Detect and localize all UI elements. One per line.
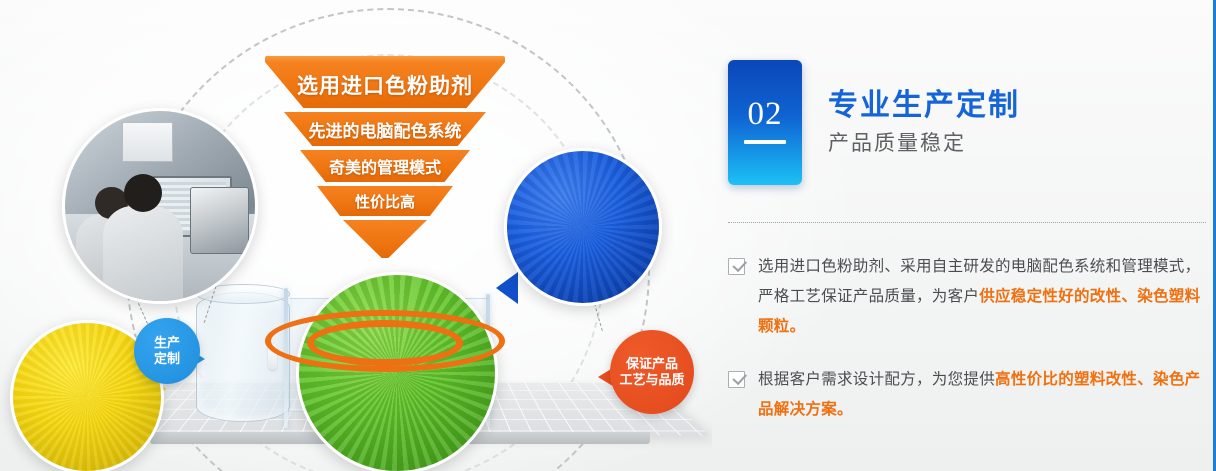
page-subtitle: 产品质量稳定 (828, 131, 1020, 156)
list-item: 选用进口色粉助剂、采用自主研发的电脑配色系统和管理模式，严格工艺保证产品质量，为… (722, 252, 1212, 343)
funnel-spout (343, 220, 427, 258)
photo-worker-2-body (103, 206, 183, 301)
left-illustration: 选用进口色粉助剂 先进的电脑配色系统 奇美的管理模式 性价比高 生产 定制 (0, 0, 712, 471)
photo-machine (190, 187, 249, 254)
feature-text-2: 根据客户需求设计配方，为您提供高性价比的塑料改性、染色产品解决方案。 (758, 365, 1212, 425)
section-number-block: 02 (728, 60, 802, 185)
funnel-top-edge (265, 56, 505, 63)
right-content-pane: 02 专业生产定制 产品质量稳定 选用进口色粉助剂、采用自主研发的电脑配色系统和… (712, 0, 1216, 471)
photo-lab-workers (62, 108, 258, 304)
header-divider (728, 222, 1206, 224)
feature-text-1: 选用进口色粉助剂、采用自主研发的电脑配色系统和管理模式，严格工艺保证产品质量，为… (758, 252, 1212, 343)
funnel-tier-1-label: 选用进口色粉助剂 (297, 70, 473, 100)
funnel-diagram: 选用进口色粉助剂 先进的电脑配色系统 奇美的管理模式 性价比高 (250, 62, 520, 262)
promo-banner: 选用进口色粉助剂 先进的电脑配色系统 奇美的管理模式 性价比高 生产 定制 (0, 0, 1216, 471)
badge-blue-line-2: 定制 (154, 351, 180, 367)
funnel-tier-1: 选用进口色粉助剂 (265, 62, 505, 108)
list-item: 根据客户需求设计配方，为您提供高性价比的塑料改性、染色产品解决方案。 (722, 365, 1212, 425)
badge-orange-line-1: 保证产品 (619, 356, 684, 372)
orange-ring-inner (307, 320, 463, 366)
photo-worker-2-head (124, 174, 162, 212)
feature-2-plain: 根据客户需求设计配方，为您提供 (758, 371, 995, 388)
funnel-tier-2-label: 先进的电脑配色系统 (309, 117, 462, 142)
section-number-underline (744, 140, 786, 144)
badge-production-custom: 生产 定制 (134, 318, 200, 384)
funnel-tier-4: 性价比高 (317, 186, 453, 216)
funnel-tier-3-label: 奇美的管理模式 (329, 154, 441, 178)
checkbox-checked-icon (728, 258, 745, 275)
badge-quality-guarantee: 保证产品 工艺与品质 (610, 330, 694, 414)
section-number: 02 (728, 98, 802, 131)
funnel-tier-4-label: 性价比高 (355, 191, 415, 212)
badge-orange-line-2: 工艺与品质 (619, 372, 684, 388)
badge-blue-line-1: 生产 (154, 335, 180, 351)
section-heading-text: 专业生产定制 产品质量稳定 (828, 89, 1020, 157)
checkbox-checked-icon (728, 371, 745, 388)
feature-list: 选用进口色粉助剂、采用自主研发的电脑配色系统和管理模式，严格工艺保证产品质量，为… (722, 252, 1212, 447)
page-title: 专业生产定制 (828, 89, 1020, 123)
photo-wall-panel (122, 122, 173, 162)
section-header: 02 专业生产定制 产品质量稳定 (728, 60, 1020, 185)
funnel-tier-2: 先进的电脑配色系统 (284, 112, 486, 146)
funnel-tier-3: 奇美的管理模式 (300, 150, 470, 182)
photo-blue-pigment-powder (504, 148, 662, 306)
